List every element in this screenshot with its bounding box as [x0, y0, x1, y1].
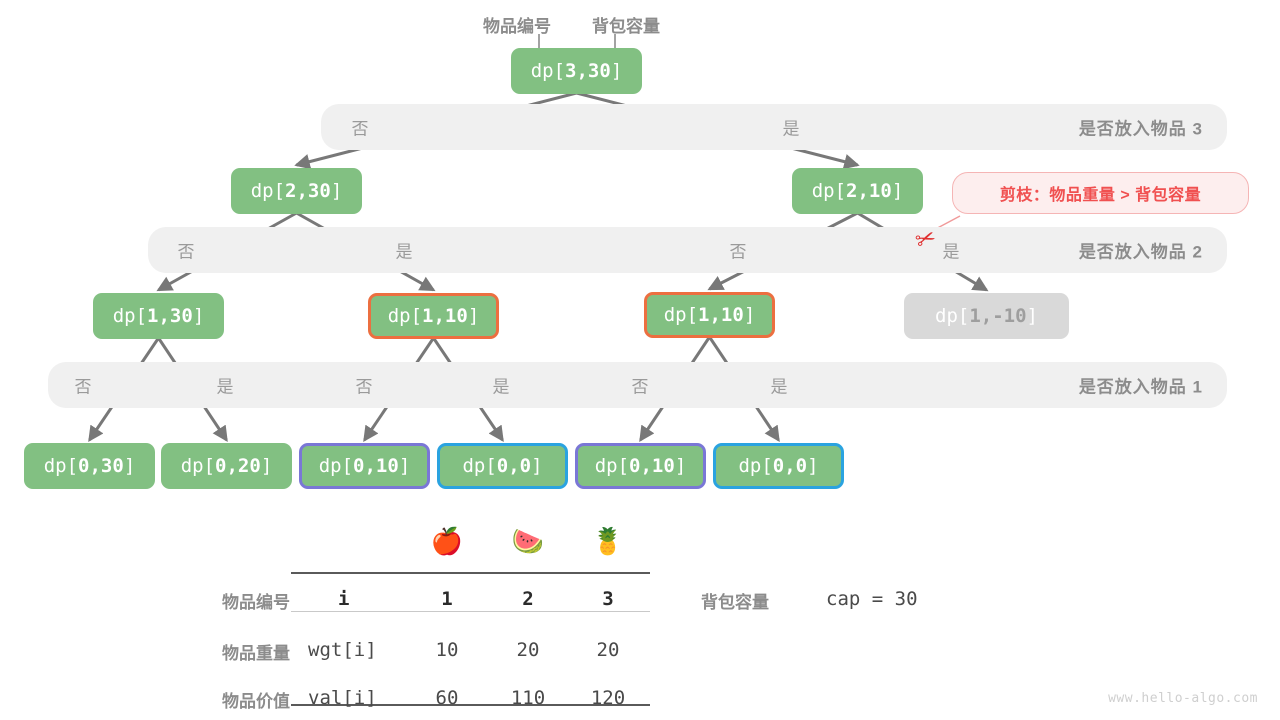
fruit-icon-3: 🍍	[592, 528, 624, 554]
tree-node-n5: dp[1,10]	[644, 292, 775, 338]
tree-node-n8: dp[0,20]	[161, 443, 292, 489]
table-rule-top	[291, 572, 650, 574]
table-cell-r0-c1: 2	[522, 588, 533, 610]
header-label-capacity: 背包容量	[592, 12, 660, 37]
decision-band-band1: 是否放入物品 1否是否是否是	[48, 362, 1227, 408]
tree-node-n4: dp[1,10]	[368, 293, 499, 339]
branch-label-是: 是	[493, 373, 510, 398]
table-cell-r1-c0: 10	[436, 639, 459, 661]
diagram-canvas: 物品编号 背包容量 是否放入物品 3否是是否放入物品 2否是否是是否放入物品 1…	[0, 0, 1280, 720]
tree-node-n10: dp[0,0]	[437, 443, 568, 489]
table-key-cell-1: wgt[i]	[308, 639, 377, 661]
branch-label-否: 否	[632, 373, 649, 398]
table-key-cell-2: val[i]	[308, 687, 377, 709]
band-title: 是否放入物品 3	[1079, 115, 1203, 140]
branch-label-是: 是	[783, 115, 800, 140]
branch-label-是: 是	[771, 373, 788, 398]
table-cell-r2-c1: 110	[511, 687, 545, 709]
table-cell-r1-c1: 20	[517, 639, 540, 661]
header-label-item-index: 物品编号	[483, 12, 551, 37]
tree-node-n1: dp[2,30]	[231, 168, 362, 214]
table-row-label-0: 物品编号	[205, 588, 290, 613]
table-cell-r0-c2: 3	[602, 588, 613, 610]
branch-label-是: 是	[217, 373, 234, 398]
tree-node-n9: dp[0,10]	[299, 443, 430, 489]
branch-label-否: 否	[178, 238, 195, 263]
tree-node-n7: dp[0,30]	[24, 443, 155, 489]
watermark: www.hello-algo.com	[1108, 691, 1258, 706]
table-key-cell-0: i	[338, 588, 349, 610]
tree-node-n3: dp[1,30]	[93, 293, 224, 339]
fruit-icon-1: 🍎	[431, 528, 463, 554]
table-cell-r1-c2: 20	[597, 639, 620, 661]
branch-label-否: 否	[730, 238, 747, 263]
fruit-icon-2: 🍉	[512, 528, 544, 554]
branch-label-否: 否	[75, 373, 92, 398]
branch-label-否: 否	[356, 373, 373, 398]
tree-node-n12: dp[0,0]	[713, 443, 844, 489]
tree-node-n2: dp[2,10]	[792, 168, 923, 214]
capacity-value: cap = 30	[826, 588, 918, 610]
branch-label-是: 是	[396, 238, 413, 263]
items-table: 🍎🍉🍍物品编号i123物品重量wgt[i]102020物品价值val[i]601…	[0, 516, 1280, 720]
table-cell-r2-c2: 120	[591, 687, 625, 709]
table-cell-r0-c0: 1	[441, 588, 452, 610]
table-rule-mid	[291, 611, 650, 612]
band-title: 是否放入物品 2	[1079, 238, 1203, 263]
branch-label-否: 否	[352, 115, 369, 140]
tree-node-n11: dp[0,10]	[575, 443, 706, 489]
tree-node-n6: dp[1,-10]	[904, 293, 1069, 339]
decision-band-band2: 是否放入物品 2否是否是	[148, 227, 1227, 273]
table-row-label-1: 物品重量	[205, 639, 290, 664]
band-title: 是否放入物品 1	[1079, 373, 1203, 398]
table-cell-r2-c0: 60	[436, 687, 459, 709]
capacity-label: 背包容量	[701, 588, 769, 613]
decision-band-band3: 是否放入物品 3否是	[321, 104, 1227, 150]
branch-label-是: 是	[943, 238, 960, 263]
pruning-callout: 剪枝：物品重量 > 背包容量	[952, 172, 1249, 214]
table-row-label-2: 物品价值	[205, 687, 290, 712]
tree-node-n0: dp[3,30]	[511, 48, 642, 94]
